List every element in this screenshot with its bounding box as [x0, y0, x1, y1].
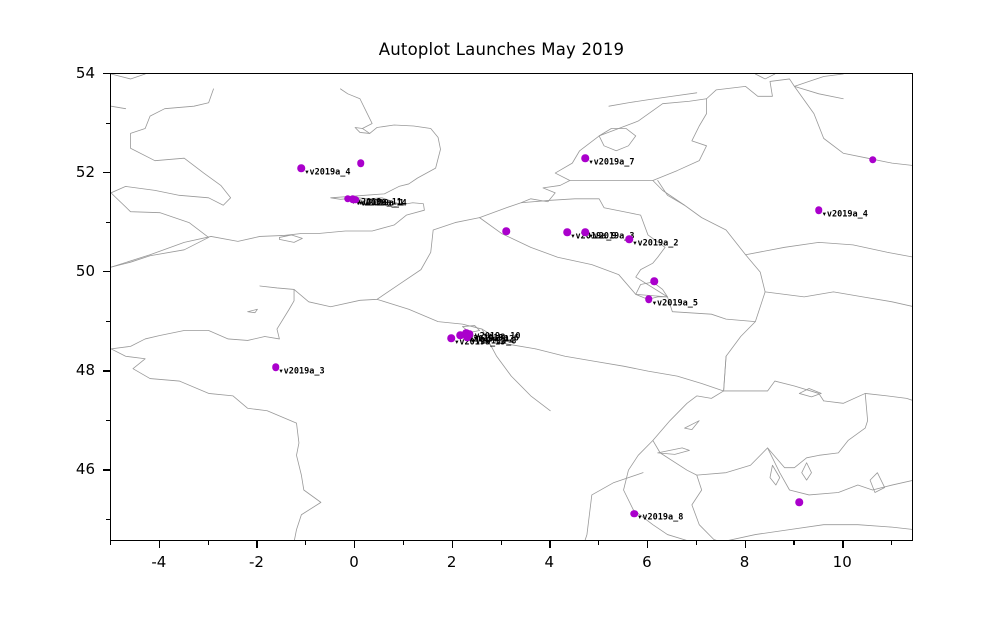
- scatter-point-label: ▾v2019a_8: [470, 337, 516, 346]
- scatter-point[interactable]: [651, 277, 659, 285]
- x-tick-minor: [403, 541, 404, 545]
- x-tick-major: [159, 541, 160, 548]
- scatter-point[interactable]: [796, 499, 804, 507]
- y-tick-label: 50: [48, 262, 95, 280]
- x-tick-major: [647, 541, 648, 548]
- scatter-point-label: ▾v2019a_1: [358, 200, 404, 209]
- scatter-point-label: ▾v2019a_3: [279, 367, 325, 376]
- x-tick-major: [842, 541, 843, 548]
- x-tick-major: [549, 541, 550, 548]
- y-tick-label: 46: [48, 460, 95, 478]
- y-tick-minor: [106, 123, 110, 124]
- y-tick-label: 48: [48, 361, 95, 379]
- x-tick-minor: [305, 541, 306, 545]
- figure-canvas: Autoplot Launches May 2019 ▾v2019a_4▾v20…: [0, 0, 1003, 633]
- x-tick-major: [354, 541, 355, 548]
- chart-title: Autoplot Launches May 2019: [0, 40, 1003, 59]
- scatter-point[interactable]: [503, 228, 511, 236]
- y-tick-minor: [106, 519, 110, 520]
- x-tick-minor: [793, 541, 794, 545]
- x-tick-label: 0: [349, 553, 359, 571]
- scatter-point-label: ▾v2019a_5: [652, 299, 698, 308]
- x-tick-minor: [110, 541, 111, 545]
- x-tick-minor: [696, 541, 697, 545]
- x-tick-label: 10: [833, 553, 852, 571]
- x-tick-label: 6: [642, 553, 652, 571]
- x-tick-minor: [891, 541, 892, 545]
- scatter-point-label: ▾v2019a_4: [822, 210, 868, 219]
- x-tick-major: [256, 541, 257, 548]
- map-axes: ▾v2019a_4▾v2019a_11▾v2019a_14▾v2019a_1▾v…: [110, 73, 913, 541]
- x-tick-minor: [208, 541, 209, 545]
- y-tick-major: [103, 469, 110, 470]
- y-tick-major: [103, 172, 110, 173]
- x-tick-label: 4: [545, 553, 555, 571]
- x-tick-major: [452, 541, 453, 548]
- scatter-point-label: ▾v2019a_4: [304, 168, 350, 177]
- y-tick-major: [103, 271, 110, 272]
- scatter-point[interactable]: [357, 159, 365, 167]
- y-tick-minor: [106, 321, 110, 322]
- scatter-point-label: ▾v2019a_2: [632, 239, 678, 248]
- x-tick-minor: [501, 541, 502, 545]
- x-tick-label: -2: [249, 553, 264, 571]
- y-tick-label: 52: [48, 163, 95, 181]
- scatter-point-label: ▾v2019a_7: [588, 158, 634, 167]
- y-tick-major: [103, 73, 110, 74]
- scatter-points-layer: ▾v2019a_4▾v2019a_11▾v2019a_14▾v2019a_1▾v…: [111, 74, 913, 541]
- scatter-point[interactable]: [869, 156, 877, 164]
- scatter-point-label: ▾v2019a_8: [637, 514, 683, 523]
- x-tick-major: [745, 541, 746, 548]
- y-tick-major: [103, 370, 110, 371]
- x-tick-label: 8: [740, 553, 750, 571]
- y-tick-label: 54: [48, 64, 95, 82]
- x-tick-minor: [598, 541, 599, 545]
- x-tick-label: 2: [447, 553, 457, 571]
- y-tick-minor: [106, 222, 110, 223]
- x-tick-label: -4: [151, 553, 166, 571]
- y-tick-minor: [106, 420, 110, 421]
